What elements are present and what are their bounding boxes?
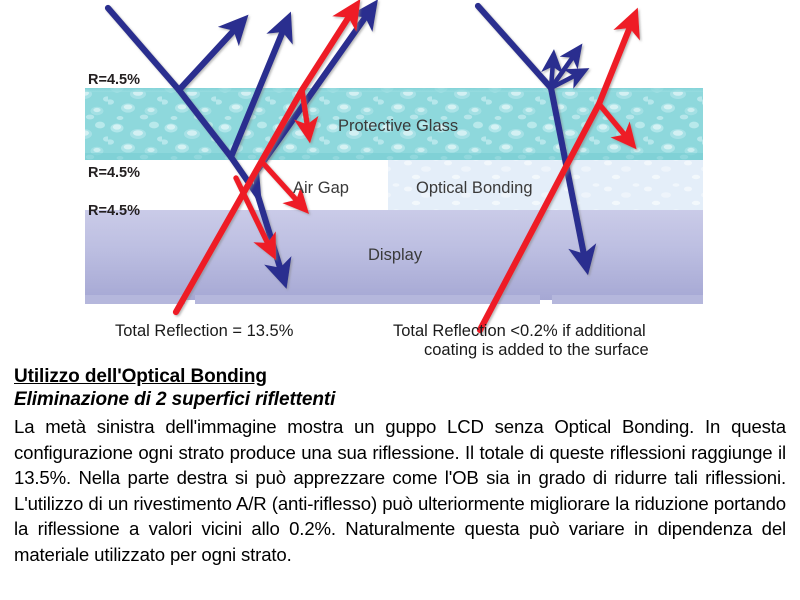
caption-right-total-reflection-line2: coating is added to the surface: [424, 341, 649, 359]
description-text-block: Utilizzo dell'Optical Bonding Eliminazio…: [14, 366, 786, 586]
label-protective-glass: Protective Glass: [338, 117, 458, 135]
body-paragraph: La metà sinistra dell'immagine mostra un…: [14, 414, 786, 568]
reflection-marker-display-top: R=4.5%: [88, 203, 140, 219]
label-optical-bonding: Optical Bonding: [416, 179, 533, 197]
label-display: Display: [368, 246, 423, 264]
incident-ray-right: [478, 6, 551, 88]
section-heading: Utilizzo dell'Optical Bonding: [14, 366, 786, 388]
reflection-marker-glass-bottom: R=4.5%: [88, 165, 140, 181]
caption-right-total-reflection-line1: Total Reflection <0.2% if additional: [393, 322, 646, 340]
caption-left-total-reflection: Total Reflection = 13.5%: [115, 322, 294, 340]
optical-bonding-diagram: R=4.5% R=4.5% R=4.5% Protective Glass Ai…: [0, 0, 800, 365]
reflection-marker-glass-top: R=4.5%: [88, 72, 140, 88]
reflected-ray-glass-top: [179, 26, 238, 90]
label-air-gap: Air Gap: [293, 179, 349, 197]
section-subheading: Eliminazione di 2 superfici riflettenti: [14, 388, 786, 412]
diagram-canvas: R=4.5% R=4.5% R=4.5% Protective Glass Ai…: [0, 0, 800, 365]
